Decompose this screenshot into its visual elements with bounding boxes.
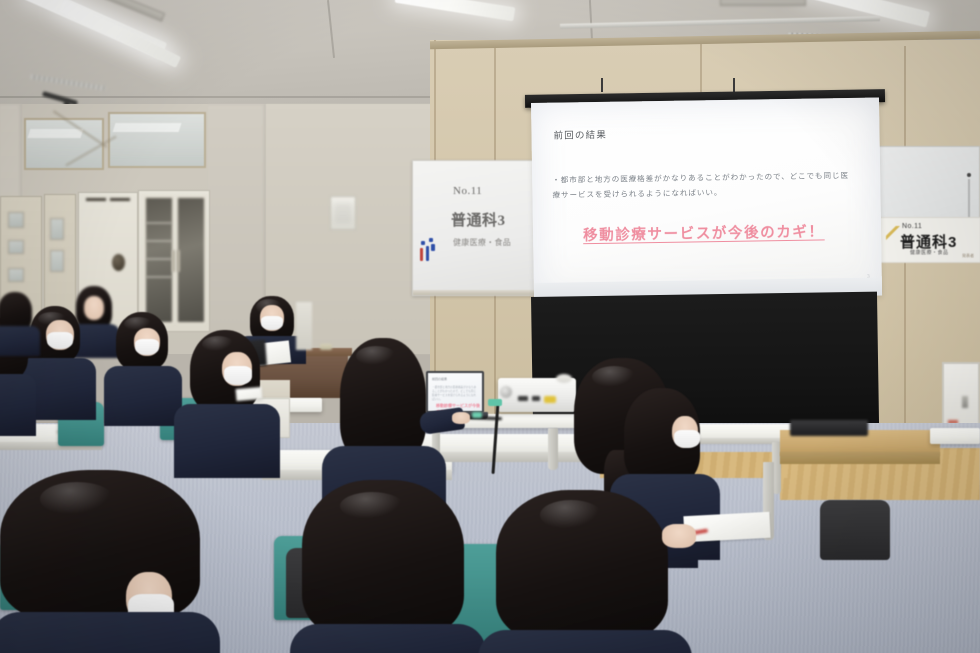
student-back-2 — [0, 292, 38, 352]
screen-hanger — [601, 78, 603, 92]
student-foreground-1 — [0, 470, 220, 653]
projector-lens — [500, 386, 512, 398]
worksheet-paper — [683, 512, 770, 542]
whiteboard-line-3: 健康医療・食品 — [453, 237, 511, 248]
magnet-blue[interactable] — [421, 241, 425, 245]
cabinet-handle[interactable] — [172, 250, 175, 272]
door-window — [50, 250, 64, 272]
cabinet-shelf — [146, 240, 172, 242]
door-window — [50, 218, 64, 240]
ceiling-vent — [720, 0, 806, 6]
wall-notice-text — [334, 204, 352, 222]
magnet-blue[interactable] — [429, 238, 433, 242]
student-uniform — [174, 404, 280, 478]
classroom-photo: No.11 普通科3 健康医療・食品 No.11 普通科3 健康医療・食品 発表… — [0, 0, 980, 653]
microphone-head — [488, 399, 502, 406]
presenter-face-mask — [261, 316, 283, 330]
wood-table-front — [780, 452, 940, 464]
black-equipment-box — [790, 420, 868, 436]
student-uniform — [478, 630, 692, 653]
student-uniform — [290, 624, 486, 653]
cabinet-vent — [86, 198, 106, 201]
student-hair-sheen — [202, 336, 234, 352]
door-window — [8, 268, 24, 282]
slide-highlight-text: 移動診療サービスが今後のカギ！ — [583, 220, 833, 245]
podium-side-panel — [296, 302, 312, 350]
student-uniform — [104, 366, 182, 426]
magnet-dot[interactable] — [967, 173, 971, 177]
slide-title: 前回の結果 — [553, 127, 607, 142]
panel-switch[interactable] — [962, 396, 968, 408]
door-window — [8, 212, 24, 228]
cabinet-vent — [110, 198, 130, 201]
cabinet-shelf — [146, 258, 172, 260]
transom-window — [24, 118, 104, 170]
poster-footer: 発表者 — [962, 253, 974, 259]
student-hand — [662, 524, 696, 548]
poster-number: No.11 — [902, 223, 922, 230]
poster-subtitle: 健康医療・食品 — [910, 249, 949, 256]
poster-corner-mark — [886, 226, 900, 240]
student-hair-sheen — [592, 366, 636, 388]
whiteboard-right[interactable]: No.11 普通科3 健康医療・食品 発表者 — [866, 146, 980, 262]
student-face-mask — [135, 339, 159, 355]
student-foreground-2 — [296, 480, 476, 653]
cabinet-shelf — [146, 276, 172, 278]
cable-clip — [472, 412, 482, 418]
transom-window — [108, 112, 206, 168]
student-hair-sheen — [540, 500, 602, 530]
student-uniform — [0, 374, 36, 436]
cabinet-knob[interactable] — [112, 254, 125, 271]
student-mid-2 — [174, 330, 280, 466]
student-uniform — [0, 326, 40, 356]
student-hair-sheen — [340, 492, 404, 520]
student-face-mask — [47, 332, 73, 349]
student-hair-sheen — [356, 346, 396, 366]
student-uniform — [0, 612, 220, 653]
chair-seat-dark[interactable] — [820, 500, 890, 560]
student-foreground-3 — [486, 490, 682, 653]
student-hand — [452, 412, 470, 424]
worksheet-paper — [236, 387, 263, 401]
poster-presentation-card: No.11 普通科3 健康医療・食品 発表者 — [879, 217, 980, 263]
student-hair-sheen — [40, 482, 114, 516]
door-window — [8, 240, 24, 254]
projector-port — [532, 396, 540, 401]
whiteboard-tray — [413, 290, 537, 295]
whiteboard-line-1: No.11 — [453, 185, 482, 197]
student-face-mask — [224, 366, 252, 385]
slide-surface: 前回の結果 ・都市部と地方の医療格差がかなりあることがわかったので、どこでも同じ… — [531, 98, 882, 301]
whiteboard-left[interactable]: No.11 普通科3 健康医療・食品 — [412, 160, 538, 296]
projector-port — [518, 396, 528, 401]
student-face-mask — [674, 430, 700, 448]
student-desk — [930, 428, 980, 444]
cabinet-shelf — [146, 222, 172, 224]
cabinet-glass-pane — [176, 196, 206, 324]
cabinet-glass-pane — [144, 196, 174, 324]
magnet-blue-bar[interactable] — [431, 244, 435, 251]
cabinet-handle[interactable] — [177, 250, 180, 272]
magnet-red[interactable] — [420, 248, 423, 261]
student-mid-1 — [104, 312, 182, 420]
screen-hanger — [733, 78, 735, 92]
whiteboard-line-2: 普通科3 — [451, 209, 506, 230]
slide-body-text: ・都市部と地方の医療格差がかなりあることがわかったので、どこでも同じ医療サービス… — [552, 168, 857, 203]
magnet-blue-bar[interactable] — [426, 246, 429, 261]
